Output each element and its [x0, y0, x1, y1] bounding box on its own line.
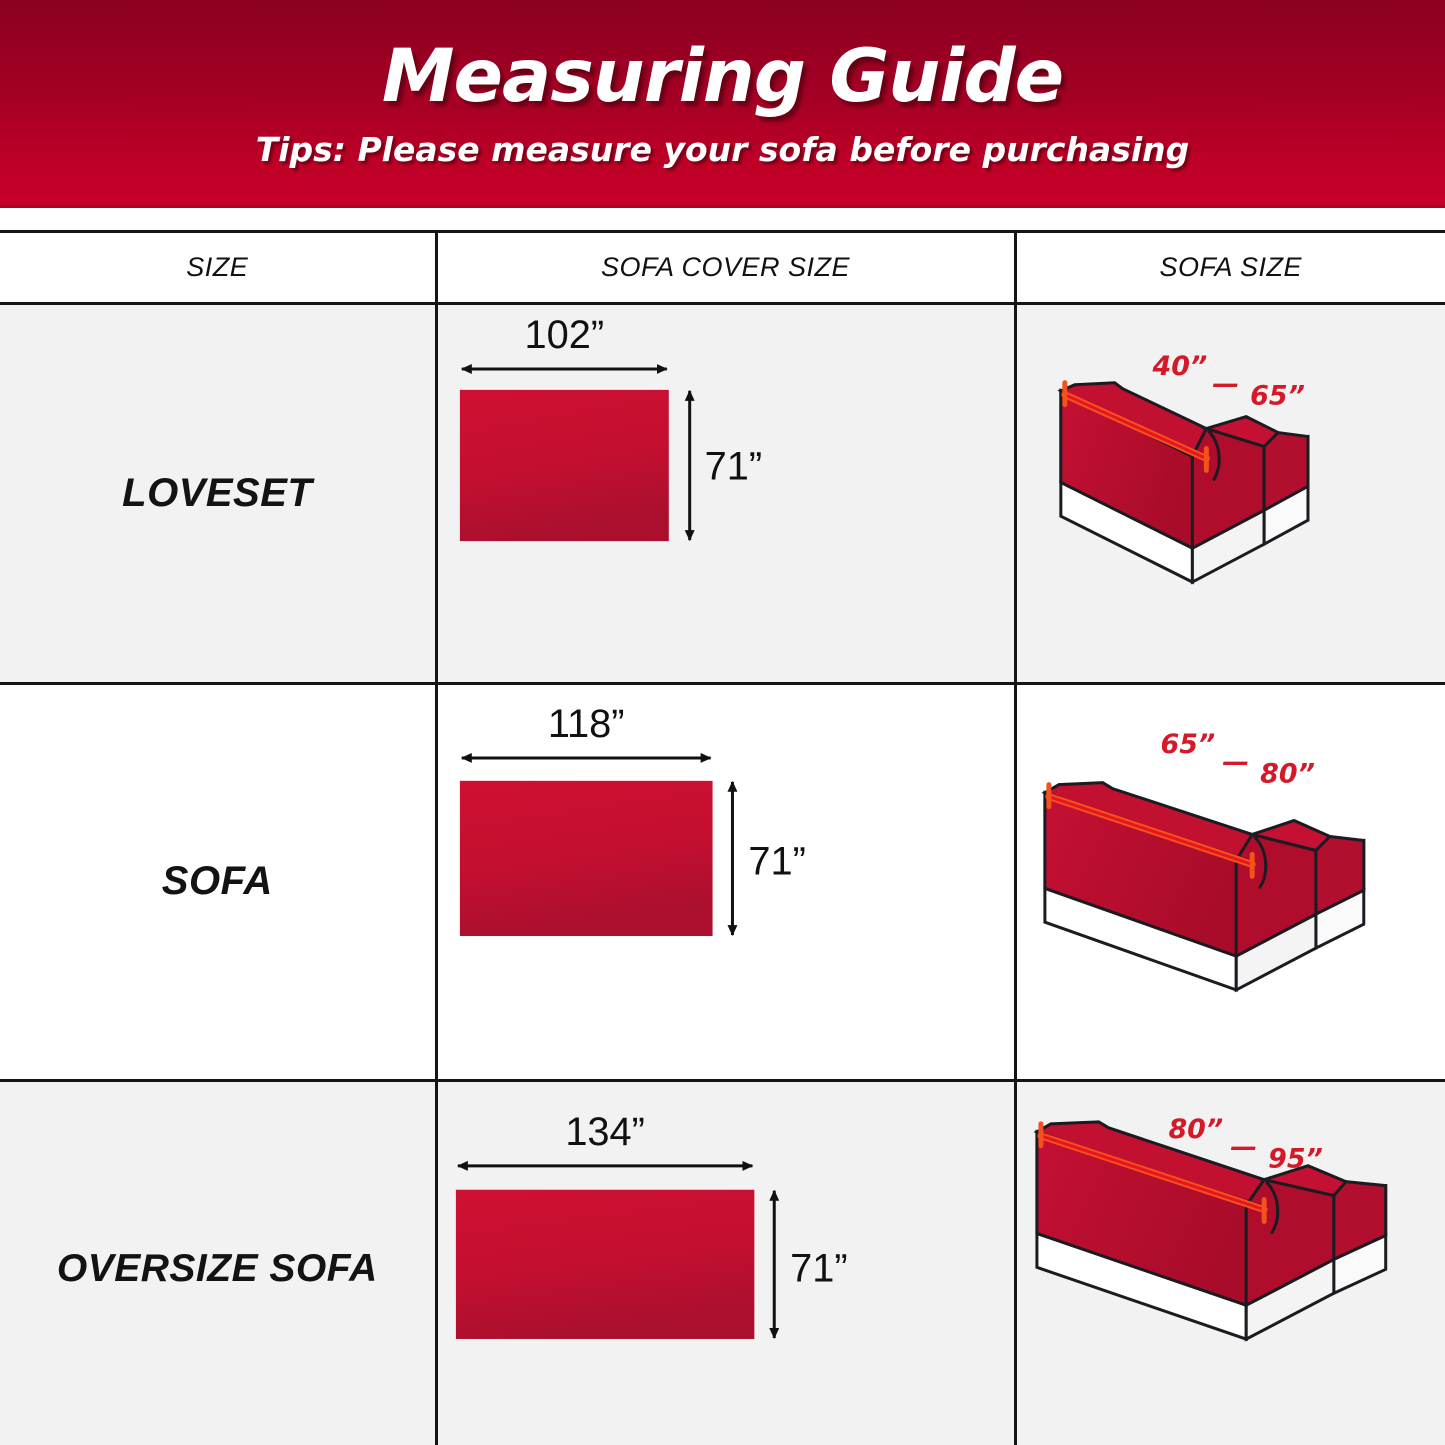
- header-banner: Measuring Guide Tips: Please measure you…: [0, 0, 1445, 208]
- sofa-range-from: 65”: [1160, 728, 1215, 759]
- cover-height-label: 71”: [748, 839, 806, 883]
- cover-width-label: 102”: [524, 313, 604, 357]
- cover-rectangle-diagram-loveset: 102” 71”: [438, 305, 1014, 682]
- cover-width-label: 118”: [547, 702, 624, 746]
- size-table: SIZE SOFA COVER SIZE SOFA SIZE LOVESET: [0, 230, 1445, 1445]
- table-head: SIZE SOFA COVER SIZE SOFA SIZE: [0, 232, 1445, 304]
- measuring-guide-page: Measuring Guide Tips: Please measure you…: [0, 0, 1445, 1445]
- table-header-row: SIZE SOFA COVER SIZE SOFA SIZE: [0, 232, 1445, 304]
- table-row: OVERSIZE SOFA: [0, 1081, 1445, 1445]
- cover-height-label: 71”: [790, 1247, 848, 1291]
- sofa-illustration-oversize: 80” — 95”: [1017, 1082, 1445, 1445]
- sofa-size-range: 40” — 65”: [1151, 351, 1304, 412]
- table-row: LOVESET: [0, 304, 1445, 684]
- page-subtitle: Tips: Please measure your sofa before pu…: [256, 130, 1190, 169]
- sofa-range-to: 80”: [1260, 758, 1315, 789]
- cover-height-label: 71”: [704, 444, 762, 488]
- sofa-range-to: 65”: [1250, 381, 1305, 412]
- sofa-range-dash: —: [1212, 369, 1239, 400]
- cover-diagram-cell: 118” 71”: [436, 683, 1015, 1081]
- cover-diagram-cell: 134” 71”: [436, 1081, 1015, 1445]
- cover-swatch: [459, 390, 668, 541]
- cover-diagram-cell: 102” 71”: [436, 304, 1015, 684]
- sofa-range-to: 95”: [1268, 1144, 1323, 1175]
- size-table-wrap: SIZE SOFA COVER SIZE SOFA SIZE LOVESET: [0, 208, 1445, 1445]
- sofa-illustration-sofa: 65” — 80”: [1017, 685, 1445, 1080]
- cover-width-label: 134”: [565, 1110, 645, 1154]
- sofa-range-from: 40”: [1151, 351, 1207, 382]
- cover-rectangle-diagram-sofa: 118” 71”: [438, 685, 1014, 1080]
- cover-swatch: [455, 1190, 753, 1339]
- sofa-diagram-cell: 80” — 95”: [1015, 1081, 1445, 1445]
- row-size-label: LOVESET: [0, 304, 436, 684]
- cover-rectangle-diagram-oversize: 134” 71”: [438, 1082, 1014, 1445]
- sofa-range-dash: —: [1222, 746, 1249, 777]
- sofa-diagram-cell: 40” — 65”: [1015, 304, 1445, 684]
- row-size-label: SOFA: [0, 683, 436, 1081]
- sofa-size-range: 65” — 80”: [1160, 728, 1314, 789]
- page-title: Measuring Guide: [382, 39, 1063, 116]
- table-body: LOVESET: [0, 304, 1445, 1445]
- row-size-label: OVERSIZE SOFA: [0, 1081, 436, 1445]
- sofa-diagram-cell: 65” — 80”: [1015, 683, 1445, 1081]
- cover-swatch: [459, 781, 712, 936]
- column-header-sofa-size: SOFA SIZE: [1015, 232, 1445, 304]
- column-header-cover-size: SOFA COVER SIZE: [436, 232, 1015, 304]
- sofa-illustration-loveset: 40” — 65”: [1017, 305, 1445, 682]
- sofa-range-from: 80”: [1168, 1114, 1223, 1145]
- column-header-size: SIZE: [0, 232, 436, 304]
- sofa-range-dash: —: [1230, 1132, 1257, 1163]
- table-row: SOFA: [0, 683, 1445, 1081]
